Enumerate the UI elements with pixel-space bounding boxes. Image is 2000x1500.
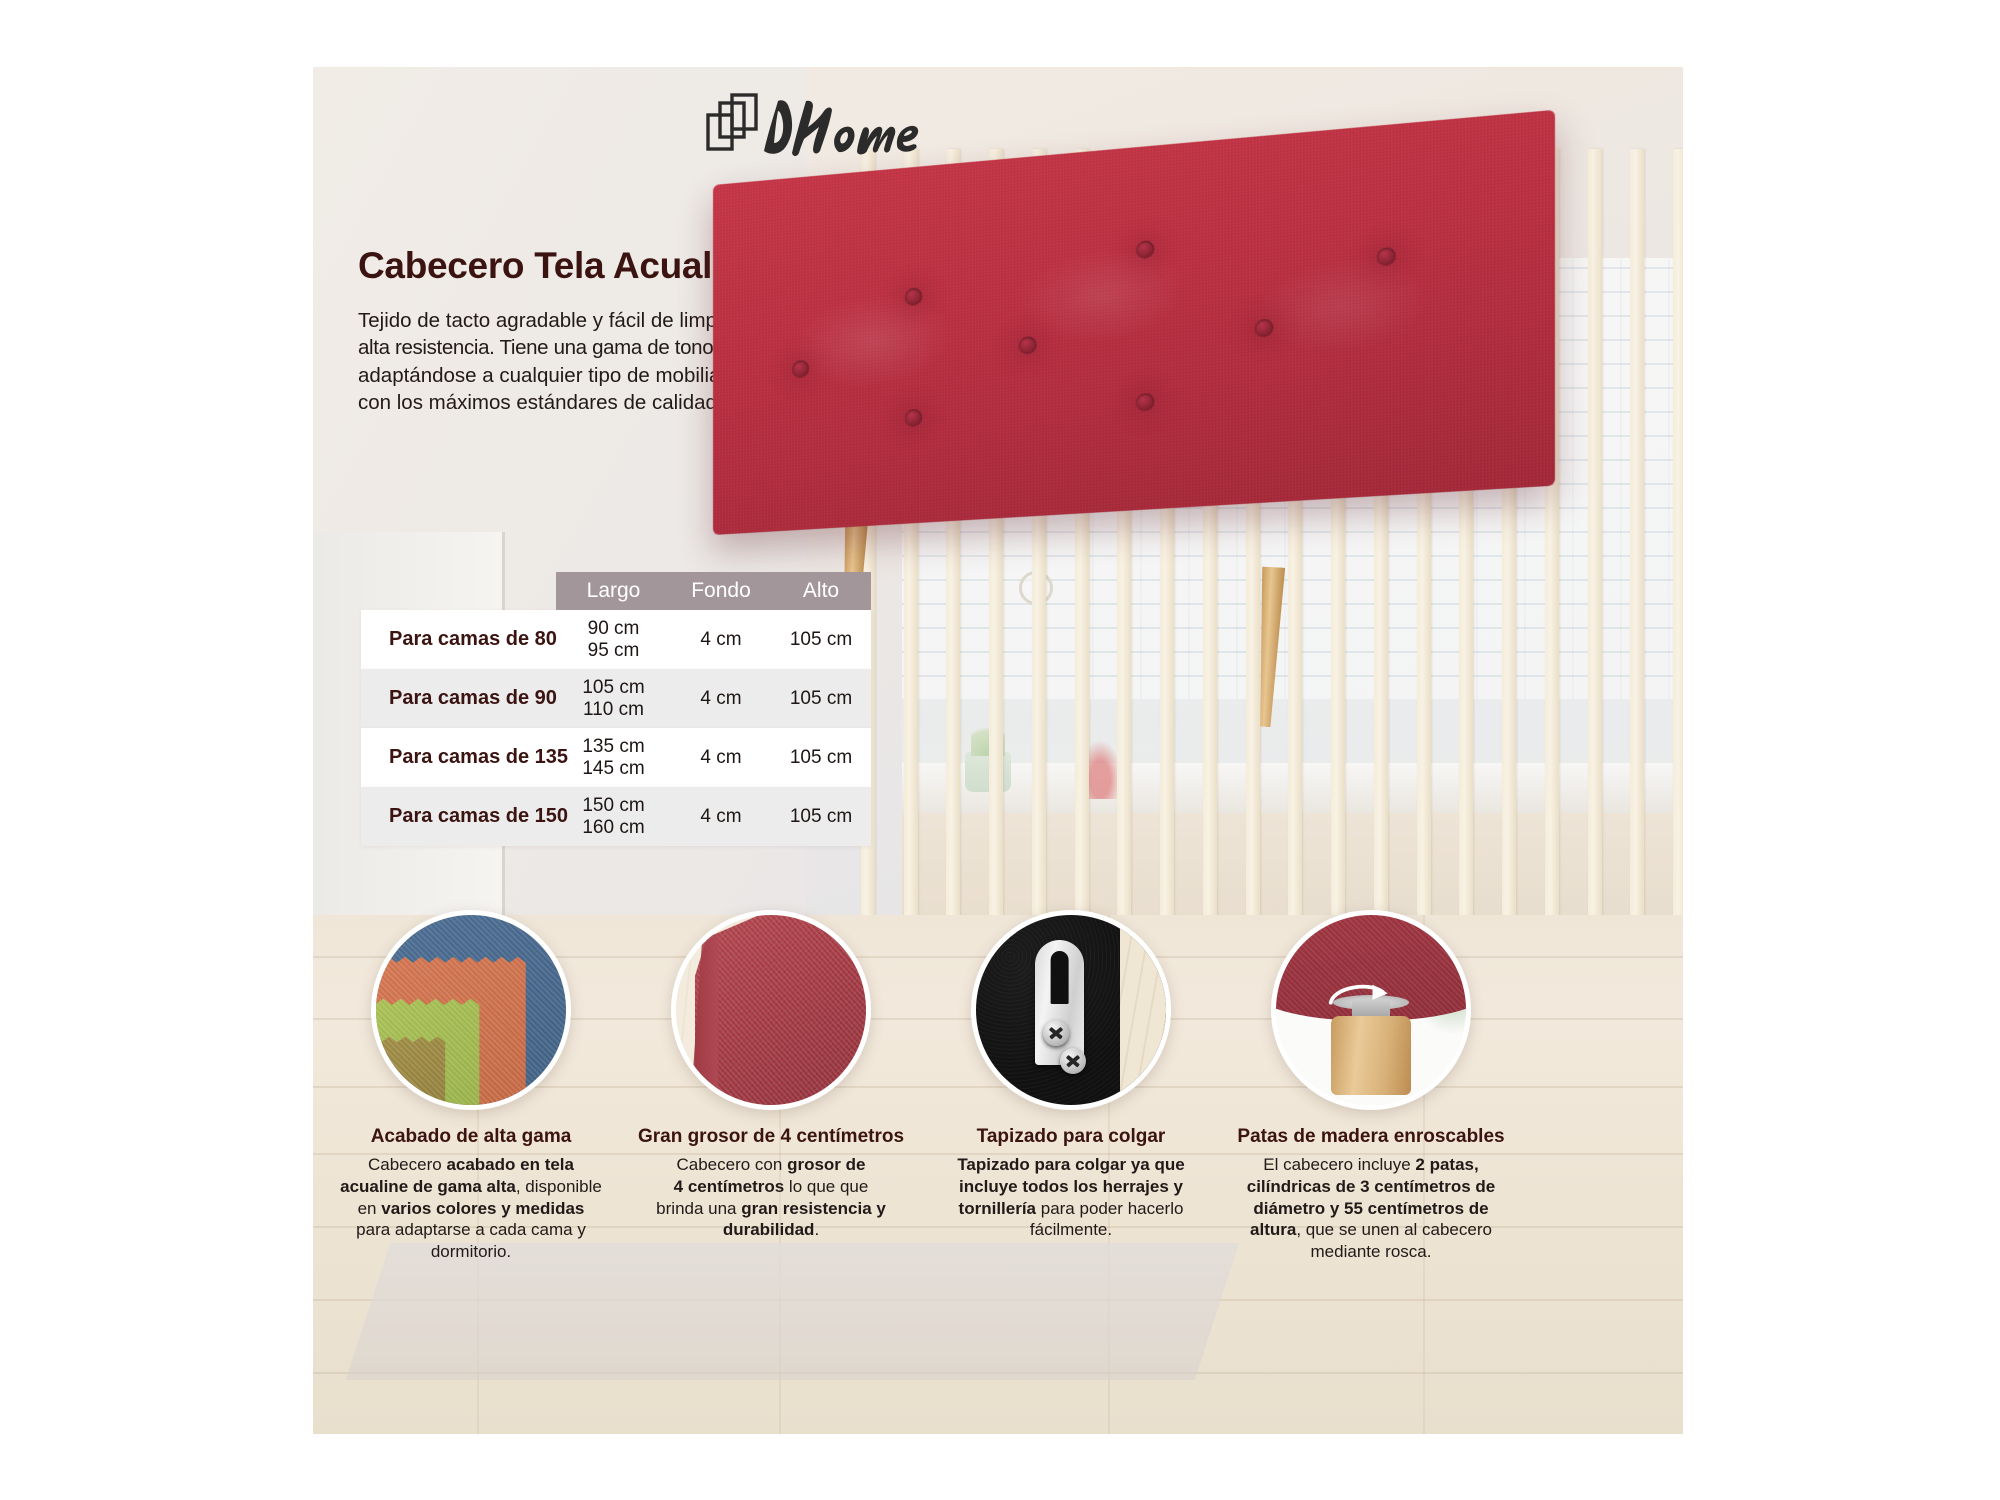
rotation-arrow-icon [1325, 978, 1393, 1008]
table-header-row: Largo Fondo Alto [361, 572, 871, 610]
upholstered-headboard [713, 110, 1555, 535]
screw-icon [1043, 1020, 1069, 1046]
feature-body-line: incluye todos los herrajes y [921, 1176, 1221, 1198]
product-infographic: Cabecero Tela Acualine Tejido de tacto a… [313, 67, 1683, 1434]
wooden-leg-icon [1271, 910, 1471, 1110]
cell-alto: 105 cm [771, 688, 871, 710]
feature-body-line: diámetro y 55 centímetros de [1221, 1198, 1521, 1220]
cell-largo: 135 cm145 cm [556, 736, 671, 779]
table-row: Para camas de 90 105 cm110 cm 4 cm 105 c… [361, 669, 871, 728]
row-label: Para camas de 135 [361, 746, 556, 769]
screenshot-canvas: Cabecero Tela Acualine Tejido de tacto a… [0, 0, 2000, 1500]
feature-title: Tapizado para colgar [921, 1126, 1221, 1148]
feature-item: Patas de madera enroscables El cabecero … [1221, 910, 1521, 1263]
feature-title: Gran grosor de 4 centímetros [621, 1126, 921, 1148]
wooden-leg [1254, 567, 1285, 728]
fabric-swatches-icon [371, 910, 571, 1110]
cell-alto: 105 cm [771, 806, 871, 828]
feature-body: Tapizado para colgar ya queincluye todos… [921, 1154, 1221, 1241]
measurements-table: Largo Fondo Alto Para camas de 80 90 cm9… [361, 572, 871, 846]
feature-body: El cabecero incluye 2 patas,cilíndricas … [1221, 1154, 1521, 1263]
feature-body-line: fácilmente. [921, 1219, 1221, 1241]
cell-largo: 90 cm95 cm [556, 618, 671, 661]
feature-body-line: tornillería para poder hacerlo [921, 1198, 1221, 1220]
row-label: Para camas de 80 [361, 628, 556, 651]
feature-body-line: brinda una gran resistencia y [621, 1198, 921, 1220]
column-header-largo: Largo [556, 572, 671, 610]
feature-body: Cabecero con grosor de4 centímetros lo q… [621, 1154, 921, 1241]
feature-body-line: El cabecero incluye 2 patas, [1221, 1154, 1521, 1176]
feature-item: Acabado de alta gama Cabecero acabado en… [321, 910, 621, 1263]
cell-largo: 105 cm110 cm [556, 677, 671, 720]
cell-fondo: 4 cm [671, 629, 771, 651]
row-label: Para camas de 150 [361, 805, 556, 828]
feature-body-line: Cabecero con grosor de [621, 1154, 921, 1176]
cell-fondo: 4 cm [671, 806, 771, 828]
table-row: Para camas de 150 150 cm160 cm 4 cm 105 … [361, 787, 871, 846]
feature-body-line: 4 centímetros lo que que [621, 1176, 921, 1198]
feature-body: Cabecero acabado en telaacualine de gama… [321, 1154, 621, 1263]
table-row: Para camas de 135 135 cm145 cm 4 cm 105 … [361, 728, 871, 787]
cell-alto: 105 cm [771, 747, 871, 769]
wall-bracket-icon [971, 910, 1171, 1110]
product-title: Cabecero Tela Acualine [358, 245, 765, 287]
dhome-squares-logo [698, 89, 928, 165]
fabric-thickness-icon [671, 910, 871, 1110]
feature-item: Tapizado para colgar Tapizado para colga… [921, 910, 1221, 1241]
feature-body-line: dormitorio. [321, 1241, 621, 1263]
feature-body-line: Cabecero acabado en tela [321, 1154, 621, 1176]
metal-bracket [1035, 940, 1084, 1065]
feature-body-line: cilíndricas de 3 centímetros de [1221, 1176, 1521, 1198]
feature-title: Patas de madera enroscables [1221, 1126, 1521, 1148]
feature-highlights: Acabado de alta gama Cabecero acabado en… [313, 910, 1683, 1430]
column-header-alto: Alto [771, 572, 871, 610]
cell-fondo: 4 cm [671, 747, 771, 769]
screw-icon [1060, 1048, 1086, 1074]
feature-body-line: mediante rosca. [1221, 1241, 1521, 1263]
feature-item: Gran grosor de 4 centímetros Cabecero co… [621, 910, 921, 1241]
feature-body-line: altura, que se unen al cabecero [1221, 1219, 1521, 1241]
feature-body-line: acualine de gama alta, disponible [321, 1176, 621, 1198]
feature-body-line: en varios colores y medidas [321, 1198, 621, 1220]
table-row: Para camas de 80 90 cm95 cm 4 cm 105 cm [361, 610, 871, 669]
row-label: Para camas de 90 [361, 687, 556, 710]
feature-body-line: para adaptarse a cada cama y [321, 1219, 621, 1241]
keyhole-slot [1050, 951, 1069, 1004]
feature-body-line: durabilidad. [621, 1219, 921, 1241]
cell-largo: 150 cm160 cm [556, 795, 671, 838]
feature-title: Acabado de alta gama [321, 1126, 621, 1148]
feature-body-line: Tapizado para colgar ya que [921, 1154, 1221, 1176]
fabric-texture [713, 110, 1555, 535]
cell-fondo: 4 cm [671, 688, 771, 710]
cell-alto: 105 cm [771, 629, 871, 651]
column-header-fondo: Fondo [671, 572, 771, 610]
